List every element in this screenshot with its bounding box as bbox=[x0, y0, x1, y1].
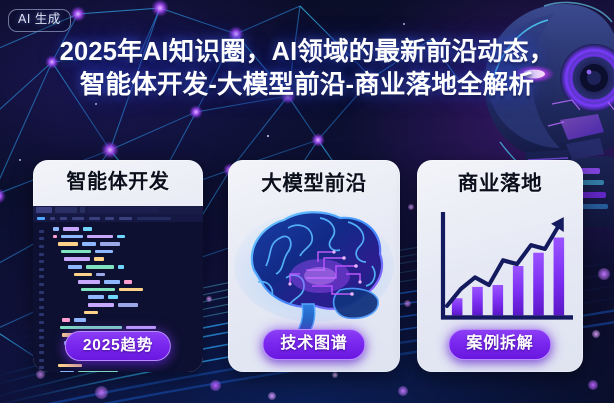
card-title: 大模型前沿 bbox=[228, 160, 400, 196]
chart-bar bbox=[513, 266, 524, 315]
card-agent-development[interactable]: 智能体开发 2025趋势 bbox=[33, 160, 203, 372]
chart-bar bbox=[472, 287, 483, 315]
tech-map-button[interactable]: 技术图谱 bbox=[262, 329, 365, 360]
chart-bar bbox=[554, 238, 565, 316]
title-line-2: 智能体开发-大模型前沿-商业落地全解析 bbox=[12, 69, 602, 102]
glowing-brain-icon bbox=[228, 204, 400, 334]
ai-generated-badge: AI 生成 bbox=[8, 9, 71, 32]
page-title: 2025年AI知识圈，AI领域的最新前沿动态， 智能体开发-大模型前沿-商业落地… bbox=[0, 36, 614, 102]
title-line-1: 2025年AI知识圈，AI领域的最新前沿动态， bbox=[12, 36, 602, 69]
case-breakdown-button[interactable]: 案例拆解 bbox=[448, 329, 551, 360]
trend-2025-button[interactable]: 2025趋势 bbox=[65, 331, 171, 361]
chart-bar bbox=[493, 285, 504, 315]
card-large-model-frontier[interactable]: 大模型前沿 技术图谱 bbox=[228, 160, 400, 372]
growth-bar-chart bbox=[433, 212, 573, 328]
poster-canvas: AI 生成 2025年AI知识圈，AI领域的最新前沿动态， 智能体开发-大模型前… bbox=[0, 0, 614, 403]
card-title: 商业落地 bbox=[417, 160, 583, 196]
cards-row: 智能体开发 2025趋势 bbox=[0, 160, 614, 372]
card-title: 智能体开发 bbox=[33, 160, 203, 194]
card-business-landing[interactable]: 商业落地 案例拆解 bbox=[417, 160, 583, 372]
chart-bar bbox=[533, 253, 544, 316]
